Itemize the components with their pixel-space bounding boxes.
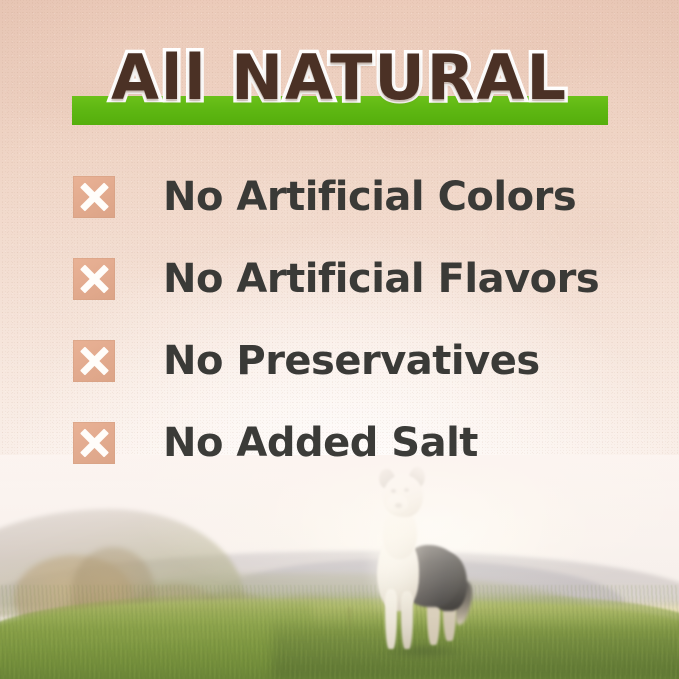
all-natural-poster: All NATURAL No Artificial Colors No Arti… [0, 0, 679, 679]
list-item-label: No Added Salt [163, 422, 478, 464]
list-item-label: No Preservatives [163, 340, 540, 382]
list-item-label: No Artificial Colors [163, 176, 576, 218]
grass-texture [0, 585, 679, 679]
list-item: No Preservatives [73, 340, 613, 382]
list-item: No Artificial Flavors [73, 258, 613, 300]
list-item: No Added Salt [73, 422, 613, 464]
list-item-label: No Artificial Flavors [163, 258, 599, 300]
dog-front-leg-left [385, 589, 397, 649]
list-item: No Artificial Colors [73, 176, 613, 218]
page-title: All NATURAL [0, 47, 679, 109]
x-mark-icon [73, 258, 115, 300]
x-mark-icon [73, 422, 115, 464]
x-mark-icon [73, 340, 115, 382]
x-mark-icon [73, 176, 115, 218]
dog-front-leg-right [401, 591, 413, 649]
feature-list: No Artificial Colors No Artificial Flavo… [73, 176, 613, 504]
